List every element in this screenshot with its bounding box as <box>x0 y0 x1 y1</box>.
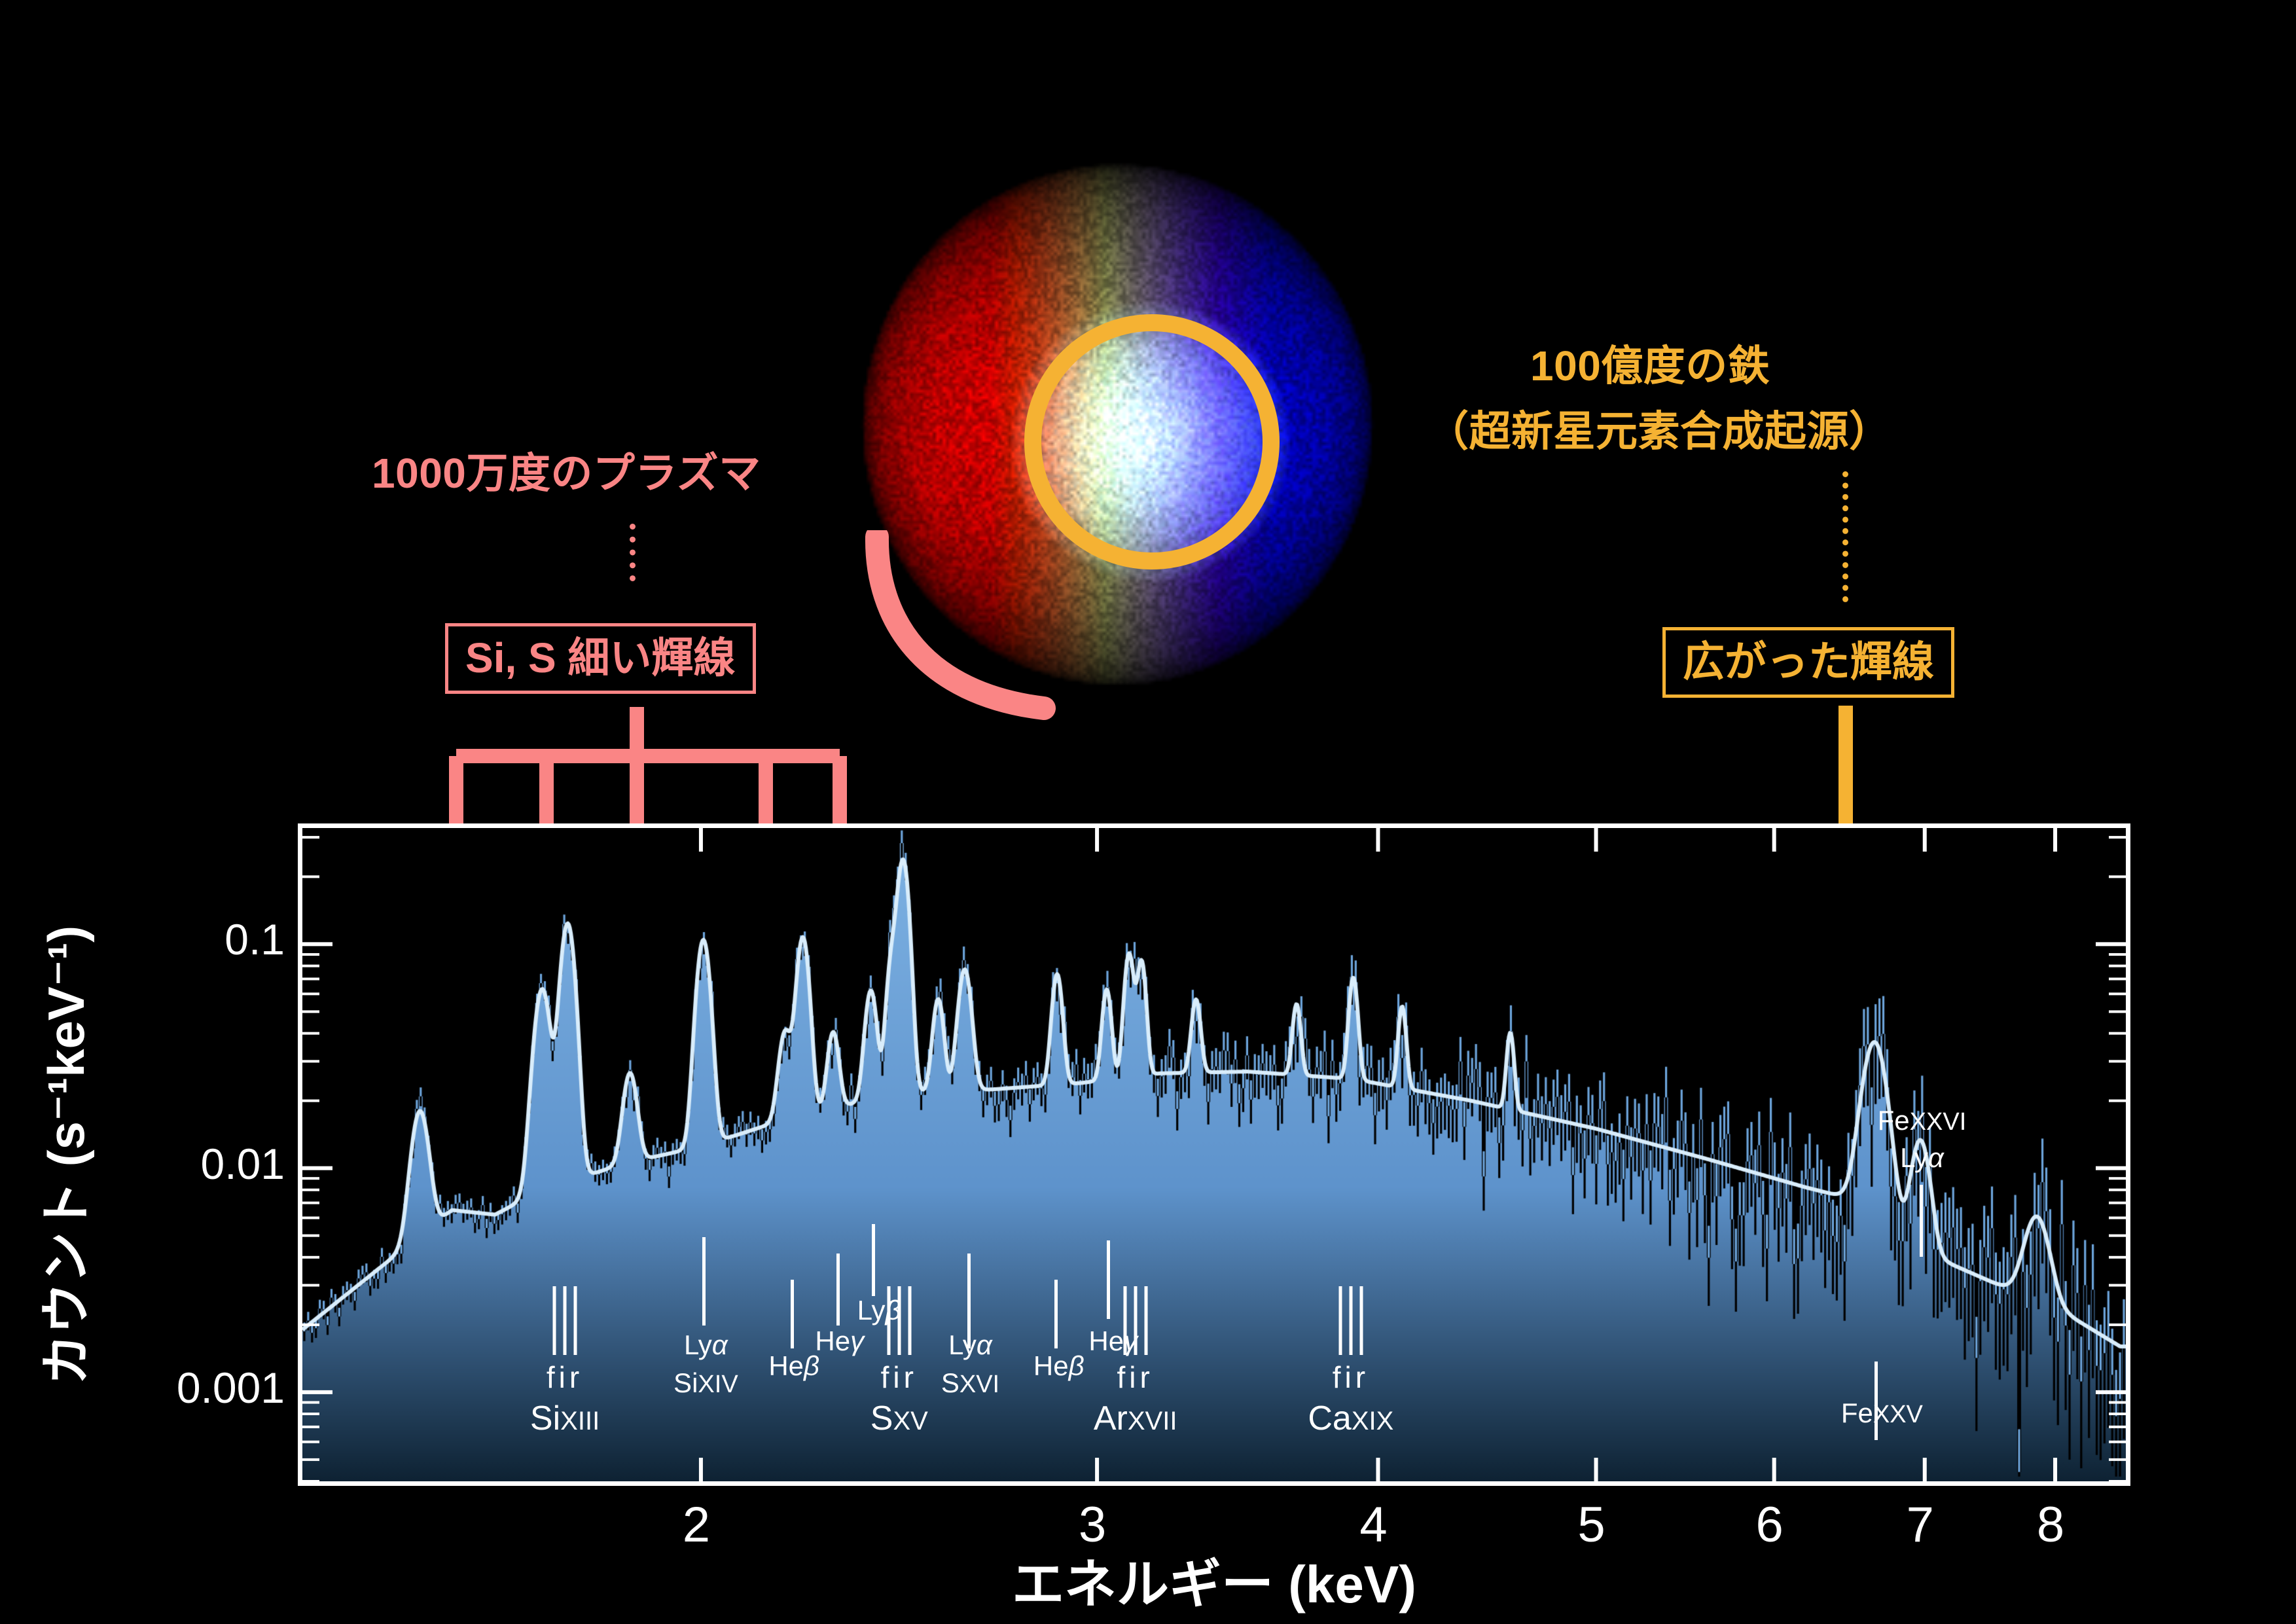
y-axis-title-text: カウント (s⁻¹keV⁻¹) <box>26 926 99 1385</box>
line-label-fe26-ion: FeXXVI <box>1878 1106 1967 1136</box>
line-label-si-hebeta: Heβ <box>768 1352 819 1380</box>
line-label-fir-ca19: fir <box>1333 1360 1369 1395</box>
y-tick-label: 0.001 <box>177 1363 285 1413</box>
pink-dotted-connector <box>630 524 636 581</box>
line-group-ar17 <box>1123 1286 1147 1355</box>
line-label-ion-s15: SXV <box>870 1399 928 1438</box>
line-label-s-hebeta: Heβ <box>1033 1352 1085 1380</box>
emission-line-marker <box>702 1237 706 1326</box>
line-label-fir-s15: fir <box>881 1360 918 1395</box>
emission-line-marker <box>1920 1185 1923 1257</box>
annotation-iron-label-line1: 100億度の鉄 <box>1530 333 1770 393</box>
spectrum-plot: firSiXIIILyαSiXIVHeβHeγLyβfirSXVLyαSXVIH… <box>298 823 2130 1486</box>
line-label-ion-ca19: CaXIX <box>1308 1399 1393 1438</box>
emission-line-marker <box>836 1254 840 1326</box>
callout-broad-lines: 広がった輝線 <box>1662 627 1954 698</box>
emission-line-marker <box>1054 1280 1058 1348</box>
y-tick-label: 0.01 <box>201 1139 285 1189</box>
pink-swoosh-icon <box>864 530 1178 746</box>
line-label-fe25: FeXXV <box>1841 1399 1923 1428</box>
annotation-plasma-label: 1000万度のプラズマ <box>372 440 761 500</box>
line-group-s15 <box>887 1286 911 1355</box>
line-label-si-hegamma: Heγ <box>815 1327 864 1356</box>
y-axis-title: カウント (s⁻¹keV⁻¹) <box>26 844 98 1466</box>
line-group-si13 <box>553 1286 577 1355</box>
line-label-ion-ar17: ArXVII <box>1094 1399 1177 1438</box>
line-label-s16-lya: Lyα <box>948 1331 992 1360</box>
y-tick-label: 0.1 <box>224 914 285 964</box>
emission-line-marker <box>791 1280 794 1348</box>
emission-line-marker <box>872 1224 875 1296</box>
callout-narrow-lines: Si, S 細い輝線 <box>445 623 756 694</box>
line-label-si14-lya: Lyα <box>684 1331 728 1360</box>
line-label-ion-si13: SiXIII <box>530 1399 600 1438</box>
line-label-s16-ion: SXVI <box>941 1369 999 1398</box>
annotation-iron-label-line2: （超新星元素合成起源） <box>1427 398 1892 458</box>
orange-dotted-connector <box>1842 471 1848 602</box>
x-axis-title: エネルギー (keV) <box>298 1542 2130 1618</box>
line-label-fir-ar17: fir <box>1117 1360 1153 1395</box>
emission-line-marker <box>1107 1240 1110 1319</box>
line-label-fir-si13: fir <box>547 1360 583 1395</box>
line-label-si14-ion: SiXIV <box>673 1369 738 1398</box>
line-label-fe26-lya: Lyα <box>1900 1144 1944 1172</box>
line-group-ca19 <box>1338 1286 1363 1355</box>
y-axis-tick-labels: 0.10.010.001 <box>85 823 285 1486</box>
